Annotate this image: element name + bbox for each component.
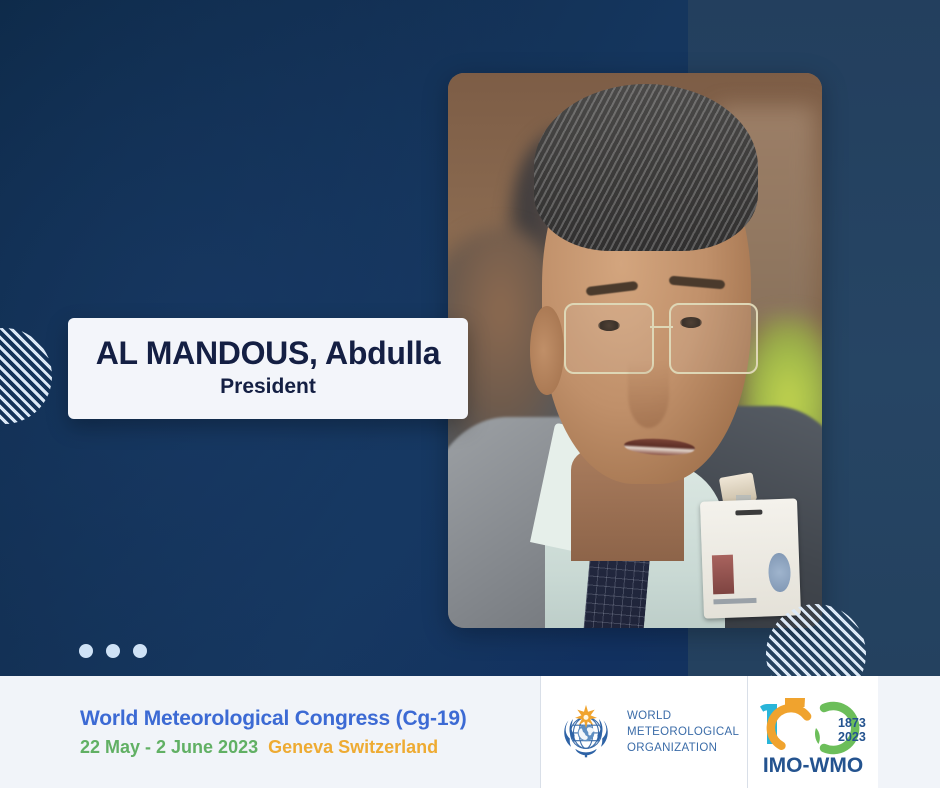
anniversary-150-icon: 1873 2023 IMO-WMO <box>754 686 872 778</box>
speaker-role: President <box>90 375 446 399</box>
event-date-place: 22 May - 2 June 2023Geneva Switzerland <box>80 736 540 759</box>
dot-icon <box>133 644 147 658</box>
portrait-photo <box>448 73 822 628</box>
photo-eyeglasses-icon <box>564 303 758 370</box>
speaker-name-card: AL MANDOUS, Abdulla President <box>68 318 468 419</box>
dot-icon <box>79 644 93 658</box>
wmo-word-line-2: METEOROLOGICAL <box>627 724 739 740</box>
wmo-emblem-icon <box>555 699 617 766</box>
event-dates: 22 May - 2 June 2023 <box>80 737 258 757</box>
photo-badge-un-icon <box>768 553 791 593</box>
decorative-dots <box>79 644 147 658</box>
photo-ear <box>530 306 564 395</box>
event-place: Geneva Switzerland <box>268 737 438 757</box>
wmo-word-line-3: ORGANIZATION <box>627 740 739 756</box>
bottom-banner-tail <box>878 676 940 788</box>
anniversary-year-to: 2023 <box>838 730 866 744</box>
anniversary-caption: IMO-WMO <box>763 754 863 777</box>
dot-icon <box>106 644 120 658</box>
photo-badge-slot <box>736 510 763 516</box>
photo-id-badge <box>700 499 801 619</box>
bottom-banner: World Meteorological Congress (Cg-19) 22… <box>0 676 940 788</box>
congress-poster: AL MANDOUS, Abdulla President World Mete… <box>0 0 940 788</box>
photo-nose <box>628 362 669 429</box>
speaker-name: AL MANDOUS, Abdulla <box>90 336 446 371</box>
event-title: World Meteorological Congress (Cg-19) <box>80 706 540 732</box>
photo-lens-right <box>669 303 759 374</box>
wmo-wordmark: WORLD METEOROLOGICAL ORGANIZATION <box>627 708 739 757</box>
photo-hair <box>534 84 758 251</box>
wmo-word-line-1: WORLD <box>627 708 739 724</box>
event-info: World Meteorological Congress (Cg-19) 22… <box>0 676 540 788</box>
photo-badge-portrait <box>712 555 735 595</box>
anniversary-logo-block: 1873 2023 IMO-WMO <box>747 676 878 788</box>
wmo-logo-block: WORLD METEOROLOGICAL ORGANIZATION <box>540 676 747 788</box>
photo-badge-textline <box>713 598 756 604</box>
anniversary-year-from: 1873 <box>838 716 866 730</box>
